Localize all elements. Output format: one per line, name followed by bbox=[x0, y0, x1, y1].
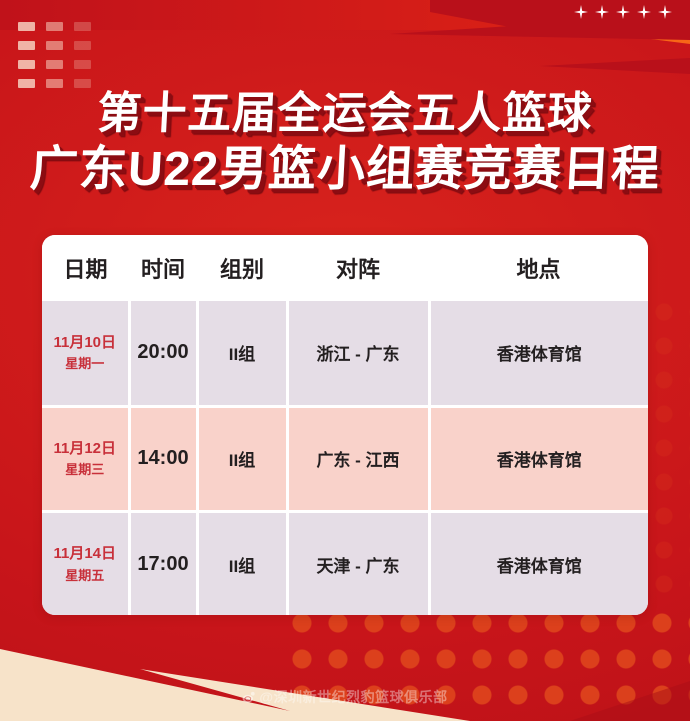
column-header-time: 时间 bbox=[129, 235, 197, 301]
cell-date: 11月12日 星期三 bbox=[42, 406, 129, 511]
cell-date-value: 11月14日 bbox=[53, 545, 116, 562]
table-row: 11月12日 星期三 14:00 II组 广东 - 江西 香港体育馆 bbox=[42, 406, 648, 511]
column-header-date: 日期 bbox=[42, 235, 129, 301]
page-title: 第十五届全运会五人篮球 广东U22男篮小组赛竞赛日程 bbox=[0, 88, 690, 199]
table-row: 11月14日 星期五 17:00 II组 天津 - 广东 香港体育馆 bbox=[42, 511, 648, 615]
cell-date-value: 11月12日 bbox=[53, 440, 116, 457]
decorative-dot-grid bbox=[18, 22, 91, 98]
table-header: 日期 时间 组别 对阵 地点 bbox=[42, 235, 648, 301]
column-header-group: 组别 bbox=[197, 235, 287, 301]
cell-time: 14:00 bbox=[129, 406, 197, 511]
cell-weekday-value: 星期五 bbox=[42, 566, 128, 586]
cell-group: II组 bbox=[197, 511, 287, 615]
sparkle-icon bbox=[595, 5, 609, 19]
cell-venue: 香港体育馆 bbox=[429, 301, 648, 406]
schedule-table: 日期 时间 组别 对阵 地点 11月10日 星期一 20:00 II组 浙江 -… bbox=[42, 235, 648, 615]
cell-date-value: 11月10日 bbox=[53, 334, 116, 351]
cell-date: 11月14日 星期五 bbox=[42, 511, 129, 615]
weibo-icon bbox=[242, 690, 256, 704]
column-header-venue: 地点 bbox=[429, 235, 648, 301]
title-line-2: 广东U22男篮小组赛竞赛日程 bbox=[0, 142, 690, 199]
watermark-text: @深圳新世纪烈豹篮球俱乐部 bbox=[259, 687, 447, 707]
cell-time: 20:00 bbox=[129, 301, 197, 406]
column-header-match: 对阵 bbox=[287, 235, 429, 301]
cell-venue: 香港体育馆 bbox=[429, 511, 648, 615]
watermark: @深圳新世纪烈豹篮球俱乐部 bbox=[0, 687, 690, 707]
cell-match: 广东 - 江西 bbox=[287, 406, 429, 511]
poster-background: 第十五届全运会五人篮球 广东U22男篮小组赛竞赛日程 日期 时间 组别 对阵 地… bbox=[0, 0, 690, 721]
cell-venue: 香港体育馆 bbox=[429, 406, 648, 511]
title-line-1: 第十五届全运会五人篮球 bbox=[0, 88, 690, 140]
sparkle-icon bbox=[574, 5, 588, 19]
cell-group: II组 bbox=[197, 301, 287, 406]
cell-date: 11月10日 星期一 bbox=[42, 301, 129, 406]
sparkle-icon bbox=[616, 5, 630, 19]
table-row: 11月10日 星期一 20:00 II组 浙江 - 广东 香港体育馆 bbox=[42, 301, 648, 406]
schedule-card: 日期 时间 组别 对阵 地点 11月10日 星期一 20:00 II组 浙江 -… bbox=[42, 235, 648, 615]
sparkle-icon bbox=[658, 5, 672, 19]
cell-time: 17:00 bbox=[129, 511, 197, 615]
sparkle-icon bbox=[637, 5, 651, 19]
table-header-row: 日期 时间 组别 对阵 地点 bbox=[42, 235, 648, 301]
sparkle-star-group bbox=[574, 5, 672, 19]
cell-weekday-value: 星期一 bbox=[42, 354, 128, 374]
cell-match: 浙江 - 广东 bbox=[287, 301, 429, 406]
cell-group: II组 bbox=[197, 406, 287, 511]
cell-weekday-value: 星期三 bbox=[42, 460, 128, 480]
cell-match: 天津 - 广东 bbox=[287, 511, 429, 615]
table-body: 11月10日 星期一 20:00 II组 浙江 - 广东 香港体育馆 11月12… bbox=[42, 301, 648, 615]
